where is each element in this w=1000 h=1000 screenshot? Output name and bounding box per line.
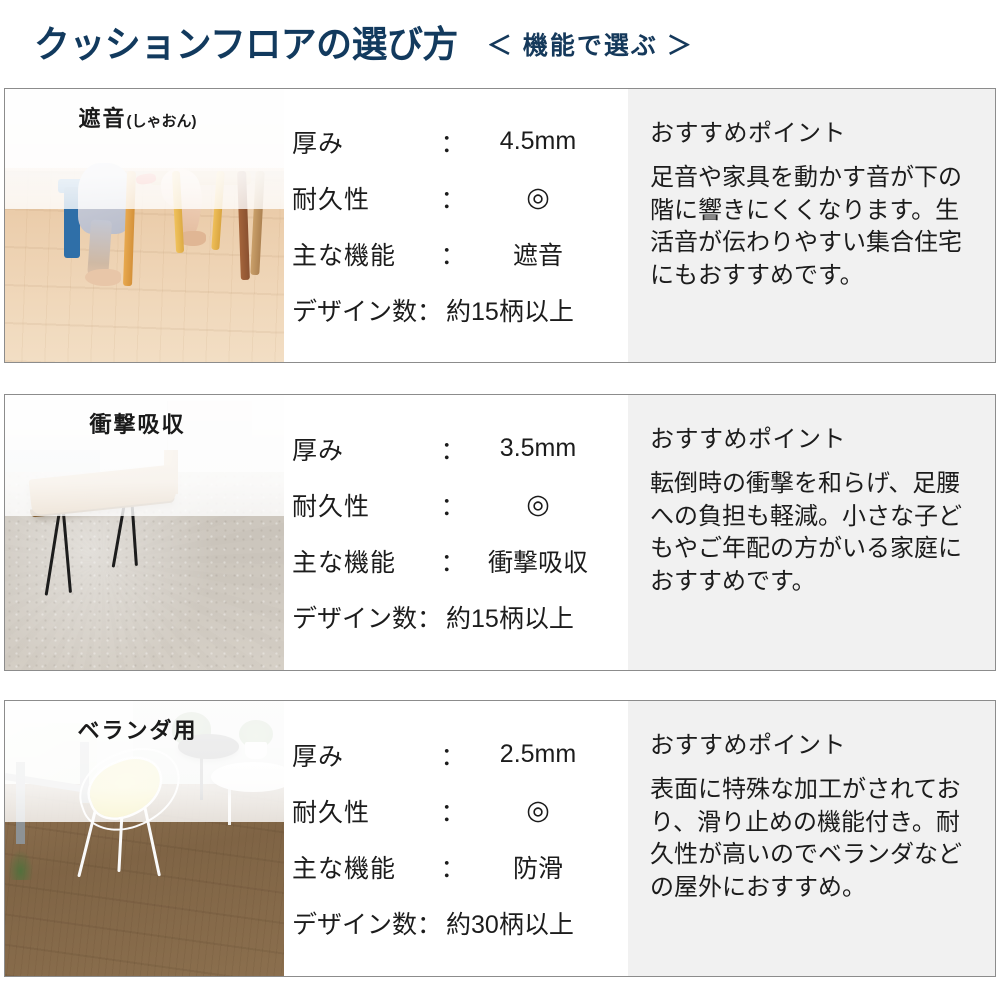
spec-value-main-function: 遮音 — [466, 236, 618, 272]
card-photo-shaon: 遮音(しゃおん) — [5, 89, 284, 362]
feature-card-shaon[interactable]: 遮音(しゃおん) 厚み ： 4.5mm 耐久性 ： ◎ 主な機能 ： 遮音 デザ… — [4, 88, 996, 363]
spec-row-main-function: 主な機能 ： 防滑 — [292, 839, 618, 895]
spec-colon: ： — [440, 124, 466, 160]
recommend-heading: おすすめポイント — [650, 419, 977, 454]
spec-label-main-function: 主な機能 — [292, 236, 440, 272]
feature-card-shock-absorption[interactable]: 衝撃吸収 厚み ： 3.5mm 耐久性 ： ◎ 主な機能 ： 衝撃吸収 デザイン… — [4, 394, 996, 671]
spec-row-design-count: デザイン数： 約30柄以上 — [292, 895, 618, 951]
card-photo-shock-absorption: 衝撃吸収 — [5, 395, 284, 670]
recommend-text: 足音や家具を動かす音が下の階に響きにくくなります。生活音が伝わりやすい集合住宅に… — [650, 162, 977, 293]
spec-value-thickness: 2.5mm — [466, 740, 618, 769]
recommend-heading: おすすめポイント — [650, 113, 977, 148]
spec-row-design-count: デザイン数： 約15柄以上 — [292, 282, 618, 338]
spec-label-thickness: 厚み — [292, 124, 440, 160]
spec-value-design-count: 約30柄以上 — [442, 905, 618, 941]
page-header: クッションフロアの選び方 ＜ 機能で選ぶ ＞ — [0, 0, 1000, 88]
spec-row-design-count: デザイン数： 約15柄以上 — [292, 589, 618, 645]
spec-value-durability-rating: ◎ — [466, 797, 618, 824]
spec-row-thickness: 厚み ： 4.5mm — [292, 114, 618, 170]
spec-label-durability: 耐久性 — [292, 180, 440, 216]
spec-label-thickness: 厚み — [292, 431, 440, 467]
spec-row-durability: 耐久性 ： ◎ — [292, 783, 618, 839]
spec-colon: ： — [440, 487, 466, 523]
card-spec-table-veranda: 厚み ： 2.5mm 耐久性 ： ◎ 主な機能 ： 防滑 デザイン数： 約30柄… — [284, 701, 628, 976]
spec-value-thickness: 3.5mm — [466, 434, 618, 463]
spec-label-main-function: 主な機能 — [292, 849, 440, 885]
card-label-ruby: (しゃおん) — [127, 113, 197, 130]
card-recommend-shock-absorption: おすすめポイント 転倒時の衝撃を和らげ、足腰への負担も軽減。小さな子どもやご年配… — [628, 395, 995, 670]
recommend-text: 転倒時の衝撃を和らげ、足腰への負担も軽減。小さな子どもやご年配の方がいる家庭にお… — [650, 468, 977, 599]
spec-label-durability: 耐久性 — [292, 793, 440, 829]
spec-value-durability-rating: ◎ — [466, 491, 618, 518]
spec-row-durability: 耐久性 ： ◎ — [292, 477, 618, 533]
spec-value-main-function: 防滑 — [466, 849, 618, 885]
card-photo-veranda: ベランダ用 — [5, 701, 284, 976]
card-recommend-shaon: おすすめポイント 足音や家具を動かす音が下の階に響きにくくなります。生活音が伝わ… — [628, 89, 995, 362]
spec-label-thickness: 厚み — [292, 737, 440, 773]
spec-row-main-function: 主な機能 ： 衝撃吸収 — [292, 533, 618, 589]
card-spec-table-shaon: 厚み ： 4.5mm 耐久性 ： ◎ 主な機能 ： 遮音 デザイン数： 約15柄… — [284, 89, 628, 362]
card-label-veranda: ベランダ用 — [5, 713, 270, 745]
card-label-text: 遮音 — [78, 106, 126, 131]
spec-value-design-count: 約15柄以上 — [442, 292, 618, 328]
card-label-text: ベランダ用 — [77, 718, 197, 743]
page-root: クッションフロアの選び方 ＜ 機能で選ぶ ＞ — [0, 0, 1000, 1000]
spec-colon: ： — [440, 543, 466, 579]
spec-row-thickness: 厚み ： 3.5mm — [292, 421, 618, 477]
spec-colon: ： — [440, 431, 466, 467]
card-label-text: 衝撃吸収 — [89, 412, 185, 437]
recommend-text: 表面に特殊な加工がされており、滑り止めの機能付き。耐久性が高いのでベランダなどの… — [650, 774, 977, 905]
spec-value-durability-rating: ◎ — [466, 184, 618, 211]
page-subtitle: ＜ 機能で選ぶ ＞ — [487, 26, 694, 62]
spec-colon: ： — [440, 793, 466, 829]
spec-colon: ： — [440, 737, 466, 773]
spec-label-design-count: デザイン数： — [292, 905, 442, 941]
spec-colon: ： — [440, 849, 466, 885]
spec-colon: ： — [440, 180, 466, 216]
spec-value-design-count: 約15柄以上 — [442, 599, 618, 635]
card-spec-table-shock-absorption: 厚み ： 3.5mm 耐久性 ： ◎ 主な機能 ： 衝撃吸収 デザイン数： 約1… — [284, 395, 628, 670]
card-recommend-veranda: おすすめポイント 表面に特殊な加工がされており、滑り止めの機能付き。耐久性が高い… — [628, 701, 995, 976]
feature-card-veranda[interactable]: ベランダ用 厚み ： 2.5mm 耐久性 ： ◎ 主な機能 ： 防滑 デザイン数… — [4, 700, 996, 977]
page-title: クッションフロアの選び方 — [34, 26, 458, 63]
spec-row-thickness: 厚み ： 2.5mm — [292, 727, 618, 783]
spec-label-main-function: 主な機能 — [292, 543, 440, 579]
spec-value-thickness: 4.5mm — [466, 127, 618, 156]
spec-colon: ： — [440, 236, 466, 272]
card-label-shock-absorption: 衝撃吸収 — [5, 407, 270, 439]
spec-label-durability: 耐久性 — [292, 487, 440, 523]
spec-value-main-function: 衝撃吸収 — [466, 543, 618, 579]
card-label-shaon: 遮音(しゃおん) — [5, 101, 270, 133]
recommend-heading: おすすめポイント — [650, 725, 977, 760]
spec-label-design-count: デザイン数： — [292, 292, 442, 328]
spec-row-main-function: 主な機能 ： 遮音 — [292, 226, 618, 282]
spec-row-durability: 耐久性 ： ◎ — [292, 170, 618, 226]
spec-label-design-count: デザイン数： — [292, 599, 442, 635]
